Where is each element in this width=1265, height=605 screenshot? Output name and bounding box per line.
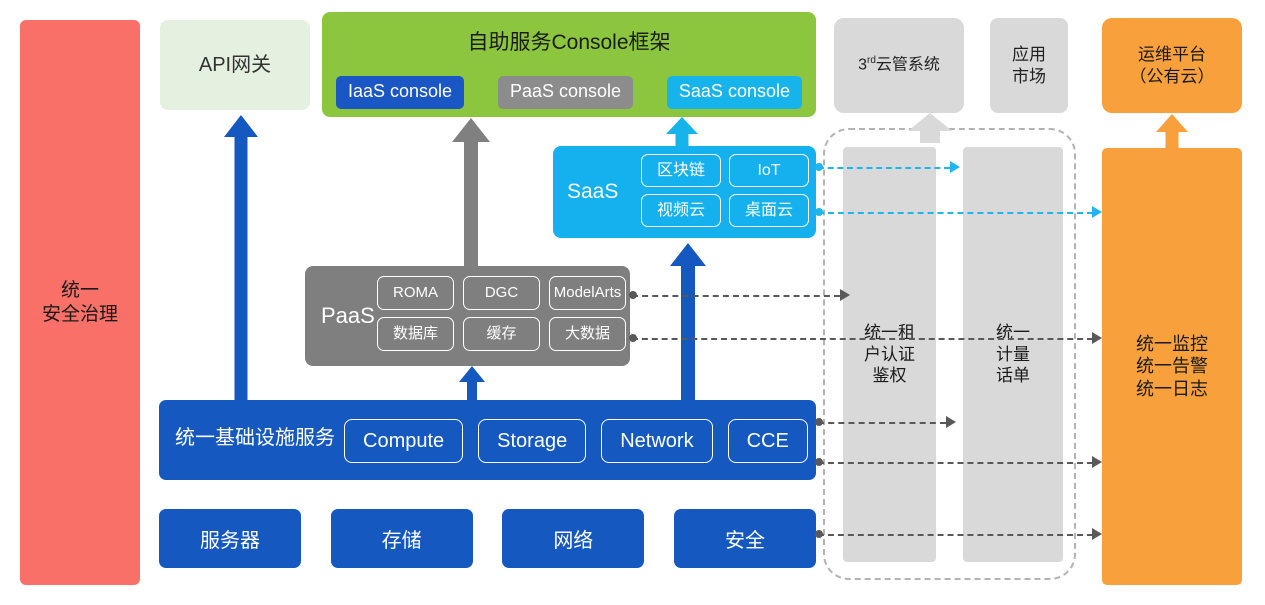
- panel-infrastructure-label: 统一基础设施服务: [175, 426, 335, 451]
- saas-item-iot[interactable]: IoT: [729, 154, 809, 187]
- panel-unified-security: 统一安全治理: [20, 20, 140, 585]
- foundation-item-server[interactable]: 服务器: [159, 509, 301, 568]
- arrow-infra-to-api-gateway: [224, 115, 258, 400]
- connector-arrowhead-infra-lower: [1092, 456, 1102, 468]
- infra-item-compute[interactable]: Compute: [344, 419, 463, 463]
- panel-ops-monitoring: 统一监控统一告警统一日志: [1102, 148, 1242, 585]
- chip-iaas-console[interactable]: IaaS console: [336, 76, 464, 109]
- connector-dot-foundation: [815, 530, 823, 538]
- connector-dot-infra-lower: [815, 458, 823, 466]
- infra-item-cce[interactable]: CCE: [728, 419, 808, 463]
- connector-paas-to-auth: [632, 295, 840, 297]
- column-unified-tenant-auth: 统一租户认证鉴权: [843, 147, 936, 562]
- connector-foundation-to-ops: [818, 534, 1093, 536]
- infrastructure-item-list: Compute Storage Network CCE: [344, 419, 808, 463]
- panel-console-framework: 自助服务Console框架 IaaS console PaaS console …: [322, 12, 816, 117]
- arrow-saas-to-console: [666, 117, 698, 147]
- panel-ops-platform: 运维平台（公有云）: [1102, 18, 1242, 113]
- paas-item-dgc[interactable]: DGC: [463, 276, 540, 310]
- column-unified-metering-billing: 统一计量话单: [963, 147, 1063, 562]
- panel-api-gateway: API网关: [160, 20, 310, 110]
- connector-arrowhead-saas-lower: [1092, 206, 1102, 218]
- panel-saas-label: SaaS: [567, 179, 618, 205]
- paas-item-bigdata[interactable]: 大数据: [549, 317, 626, 351]
- arrow-ops-main-to-ops-top: [1156, 114, 1188, 149]
- paas-item-modelarts[interactable]: ModelArts: [549, 276, 626, 310]
- panel-third-party-cloud-mgmt-label: 3rd云管系统: [858, 55, 940, 75]
- panel-paas-label: PaaS: [321, 302, 375, 330]
- panel-app-market-label: 应用市场: [1012, 44, 1046, 87]
- saas-item-video-cloud[interactable]: 视频云: [641, 194, 721, 227]
- infra-item-storage[interactable]: Storage: [478, 419, 586, 463]
- console-chip-list: IaaS console PaaS console SaaS console: [336, 76, 802, 109]
- paas-item-list: ROMA DGC ModelArts 数据库 缓存 大数据: [377, 276, 626, 351]
- connector-saas-to-ops: [818, 212, 1093, 214]
- foundation-item-storage[interactable]: 存储: [331, 509, 473, 568]
- paas-item-database[interactable]: 数据库: [377, 317, 454, 351]
- connector-arrowhead-paas-lower: [1092, 332, 1102, 344]
- connector-arrowhead-foundation: [1092, 528, 1102, 540]
- panel-third-party-cloud-mgmt: 3rd云管系统: [834, 18, 964, 113]
- connector-dot-paas-upper: [629, 291, 637, 299]
- connector-dot-paas-lower: [629, 334, 637, 342]
- paas-item-roma[interactable]: ROMA: [377, 276, 454, 310]
- foundation-row: 服务器 存储 网络 安全: [159, 509, 816, 568]
- panel-paas: PaaS ROMA DGC ModelArts 数据库 缓存 大数据: [305, 266, 630, 366]
- connector-paas-to-ops: [632, 338, 1093, 340]
- console-framework-title: 自助服务Console框架: [322, 30, 816, 56]
- foundation-item-security[interactable]: 安全: [674, 509, 816, 568]
- foundation-item-network[interactable]: 网络: [502, 509, 644, 568]
- connector-arrowhead-infra-upper: [946, 416, 956, 428]
- column-unified-metering-billing-label: 统一计量话单: [996, 322, 1030, 387]
- connector-infra-to-metering: [818, 422, 946, 424]
- paas-item-cache[interactable]: 缓存: [463, 317, 540, 351]
- arrow-zone-to-third-party: [908, 113, 952, 143]
- connector-saas-to-metering: [818, 167, 950, 169]
- connector-dot-saas-lower: [815, 208, 823, 216]
- arrow-infra-to-paas: [459, 366, 485, 400]
- architecture-diagram: 统一安全治理 API网关 自助服务Console框架 IaaS console …: [0, 0, 1265, 605]
- panel-unified-security-label: 统一安全治理: [42, 279, 118, 327]
- panel-ops-monitoring-label: 统一监控统一告警统一日志: [1136, 333, 1208, 401]
- connector-arrowhead-saas-upper: [950, 161, 960, 173]
- saas-item-list: 区块链 IoT 视频云 桌面云: [641, 154, 809, 227]
- chip-paas-console[interactable]: PaaS console: [498, 76, 633, 109]
- panel-infrastructure: 统一基础设施服务 Compute Storage Network CCE: [159, 400, 816, 480]
- panel-app-market: 应用市场: [990, 18, 1068, 113]
- panel-saas: SaaS 区块链 IoT 视频云 桌面云: [553, 146, 816, 238]
- saas-item-blockchain[interactable]: 区块链: [641, 154, 721, 187]
- infra-item-network[interactable]: Network: [601, 419, 712, 463]
- panel-ops-platform-label: 运维平台（公有云）: [1130, 44, 1215, 87]
- chip-saas-console[interactable]: SaaS console: [667, 76, 802, 109]
- arrow-infra-to-saas: [670, 243, 706, 400]
- connector-infra-to-ops: [818, 462, 1093, 464]
- connector-dot-saas-upper: [815, 163, 823, 171]
- column-unified-tenant-auth-label: 统一租户认证鉴权: [864, 322, 915, 387]
- connector-dot-infra-upper: [815, 418, 823, 426]
- connector-arrowhead-paas-upper: [840, 289, 850, 301]
- panel-api-gateway-label: API网关: [199, 53, 271, 78]
- arrow-paas-to-console: [452, 118, 490, 266]
- saas-item-desktop-cloud[interactable]: 桌面云: [729, 194, 809, 227]
